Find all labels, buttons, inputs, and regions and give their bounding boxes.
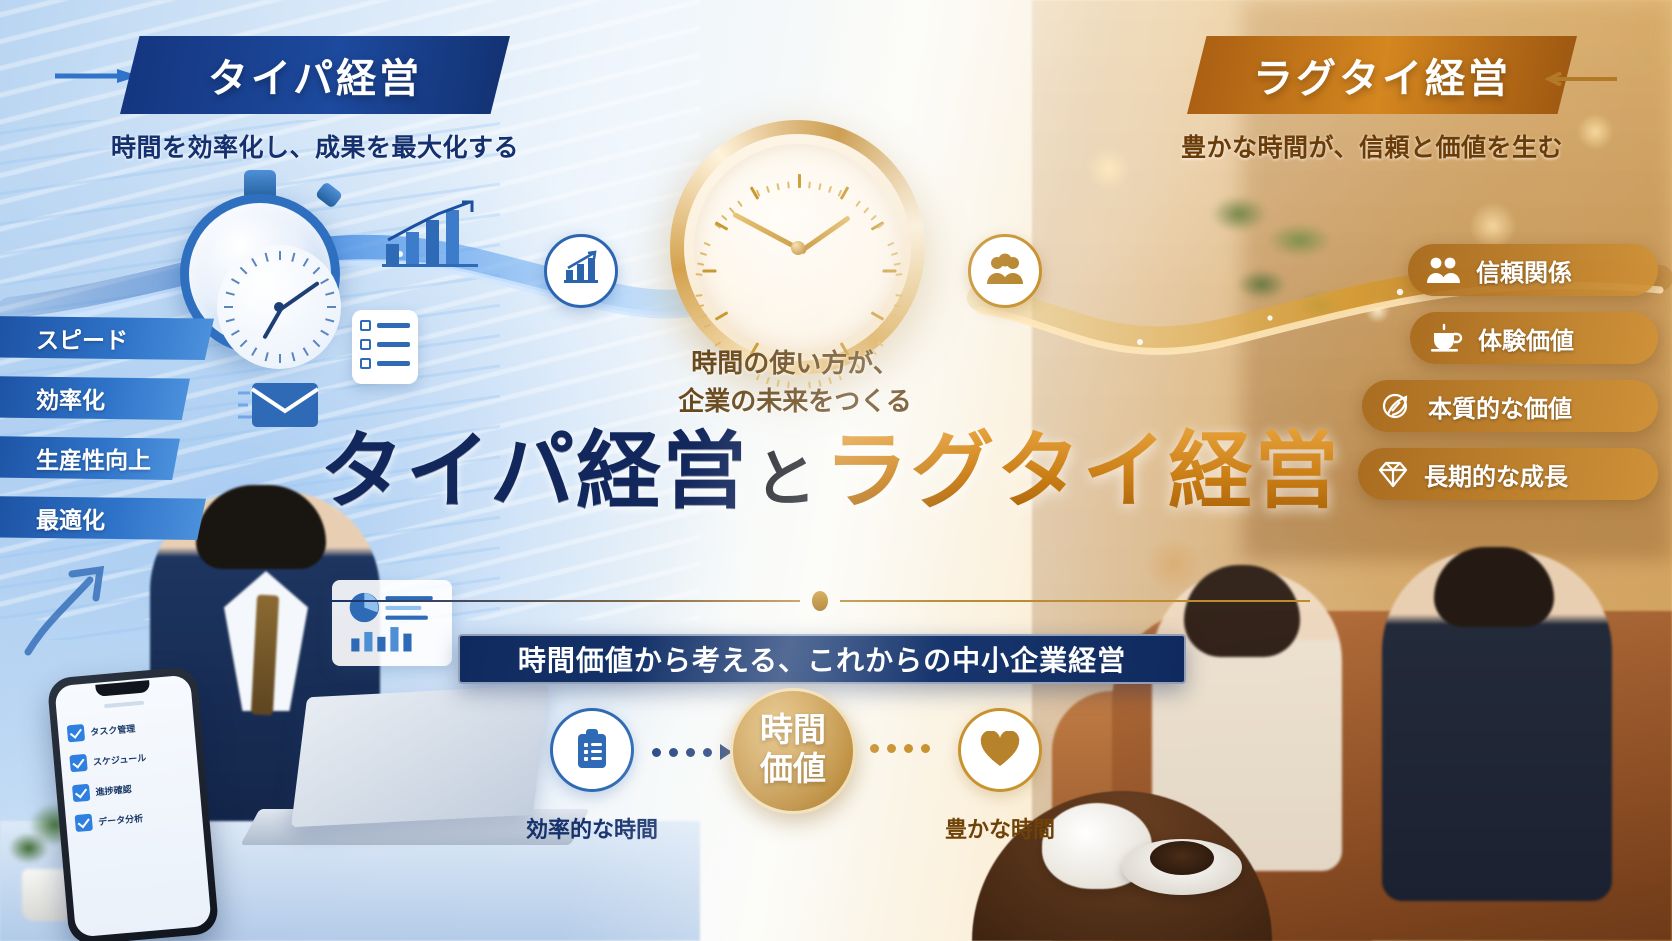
coffee-cup-saucer xyxy=(1122,839,1242,895)
subtitle-band: 時間価値から考える、これからの中小企業経営 xyxy=(458,634,1186,684)
page-title-left: タイパ経営 xyxy=(320,426,748,519)
growth-arrow-icon xyxy=(20,560,110,660)
left-tag-list: スピード 効率化 生産性向上 最適化 xyxy=(0,316,214,556)
clock-minute-tick xyxy=(808,181,811,188)
cafe-sofa xyxy=(1112,611,1672,941)
clock-minute-tick xyxy=(787,181,790,188)
checklist-card-icon xyxy=(352,310,418,384)
checkbox-checked-icon xyxy=(67,724,85,742)
banner-taipa: タイパ経営 xyxy=(120,36,510,114)
phone-task-label: データ分析 xyxy=(98,811,144,828)
banner-ragutai-label: ラグタイ経営 xyxy=(1253,46,1511,104)
coffee-cup-icon xyxy=(1428,323,1464,353)
page-title: タイパ経営とラグタイ経営 xyxy=(320,428,1320,519)
laptop-screen xyxy=(291,685,549,827)
phone-list-item: データ分析 xyxy=(75,805,194,832)
pill-essential-value-label: 本質的な価値 xyxy=(1428,389,1572,424)
phone-screen: タスク管理 スケジュール 進捗確認 データ分析 xyxy=(54,675,211,938)
divider-line-right xyxy=(840,600,1310,602)
clock-hour-tick xyxy=(798,174,801,188)
phone-list-item: タスク管理 xyxy=(67,715,186,742)
value-flow-diagram: 時間 価値 効率的な時間 豊かな時間 xyxy=(540,684,1060,844)
divider-line-left xyxy=(330,600,800,602)
subtitle-ragutai: 豊かな時間が、信頼と価値を生む xyxy=(1157,128,1587,164)
center-note: 時間の使い方が、 企業の未来をつくる xyxy=(660,345,930,420)
checkbox-checked-icon xyxy=(75,814,93,832)
heart-icon xyxy=(979,731,1021,769)
pill-long-term-growth-label: 長期的な成長 xyxy=(1424,457,1568,492)
flow-node-time-value: 時間 価値 xyxy=(730,688,856,814)
right-direction-arrow-icon xyxy=(1539,72,1617,86)
left-direction-arrow-icon xyxy=(55,68,139,84)
pill-experience-label: 体験価値 xyxy=(1478,321,1574,356)
clipboard-checklist-icon xyxy=(572,728,612,772)
tag-productivity: 生産性向上 xyxy=(0,436,180,480)
pill-trust-label: 信頼関係 xyxy=(1476,253,1572,288)
envelope-icon xyxy=(238,375,324,435)
flow-node-time-value-line2: 価値 xyxy=(760,751,826,790)
tag-optimization-label: 最適化 xyxy=(36,501,105,535)
subtitle-taipa: 時間を効率化し、成果を最大化する xyxy=(100,128,530,164)
flow-node-time-value-line1: 時間 xyxy=(760,712,826,751)
people-group-icon xyxy=(968,234,1042,308)
tag-speed-label: スピード xyxy=(36,321,128,355)
bar-chart-icon xyxy=(382,200,478,274)
right-pill-list: 信頼関係 体験価値 本質的な価値 長期的な成長 xyxy=(1318,244,1658,516)
flow-node-rich-time xyxy=(958,708,1042,792)
flow-arrow-left xyxy=(652,744,732,760)
phone-list-item: 進捗確認 xyxy=(72,775,191,802)
page-title-conjunction: と xyxy=(748,446,824,514)
phone-list-item: スケジュール xyxy=(69,745,188,772)
tag-optimization: 最適化 xyxy=(0,496,206,540)
people-icon xyxy=(1426,255,1462,285)
phone-task-label: タスク管理 xyxy=(90,722,136,739)
banner-taipa-label: タイパ経営 xyxy=(208,46,422,104)
phone-app-bar xyxy=(104,701,144,708)
smartphone-mockup: タスク管理 スケジュール 進捗確認 データ分析 xyxy=(47,666,220,941)
cafe-person-woman xyxy=(1152,571,1342,871)
flow-arrow-right xyxy=(870,744,930,753)
checkbox-checked-icon xyxy=(72,784,90,802)
pill-experience: 体験価値 xyxy=(1410,312,1658,364)
divider-diamond-icon xyxy=(812,591,828,611)
infographic-canvas: タイパ経営 時間を効率化し、成果を最大化する ラグタイ経営 豊かな時間が、信頼と… xyxy=(0,0,1672,941)
checkbox-checked-icon xyxy=(69,754,87,772)
page-title-right: ラグタイ経営 xyxy=(824,426,1340,519)
subtitle-band-label: 時間価値から考える、これからの中小企業経営 xyxy=(518,639,1126,679)
flow-label-rich: 豊かな時間 xyxy=(900,812,1100,844)
flow-node-efficient xyxy=(550,708,634,792)
leaf-icon xyxy=(1380,391,1414,421)
tag-productivity-label: 生産性向上 xyxy=(36,441,151,475)
pill-trust: 信頼関係 xyxy=(1408,244,1658,296)
cafe-sofa-secondary xyxy=(1052,691,1372,941)
phone-task-label: 進捗確認 xyxy=(95,782,132,798)
banner-ragutai: ラグタイ経営 xyxy=(1187,36,1577,114)
pill-essential-value: 本質的な価値 xyxy=(1362,380,1658,432)
tag-efficiency-label: 効率化 xyxy=(36,381,105,415)
title-divider xyxy=(330,592,1310,610)
bar-chart-growth-icon xyxy=(544,234,618,308)
phone-task-label: スケジュール xyxy=(92,751,146,769)
diamond-icon xyxy=(1376,459,1410,489)
tag-speed: スピード xyxy=(0,316,214,360)
pill-long-term-growth: 長期的な成長 xyxy=(1358,448,1658,500)
flow-label-efficient: 効率的な時間 xyxy=(492,812,692,844)
tag-efficiency: 効率化 xyxy=(0,376,190,420)
cafe-person-man xyxy=(1382,551,1612,901)
